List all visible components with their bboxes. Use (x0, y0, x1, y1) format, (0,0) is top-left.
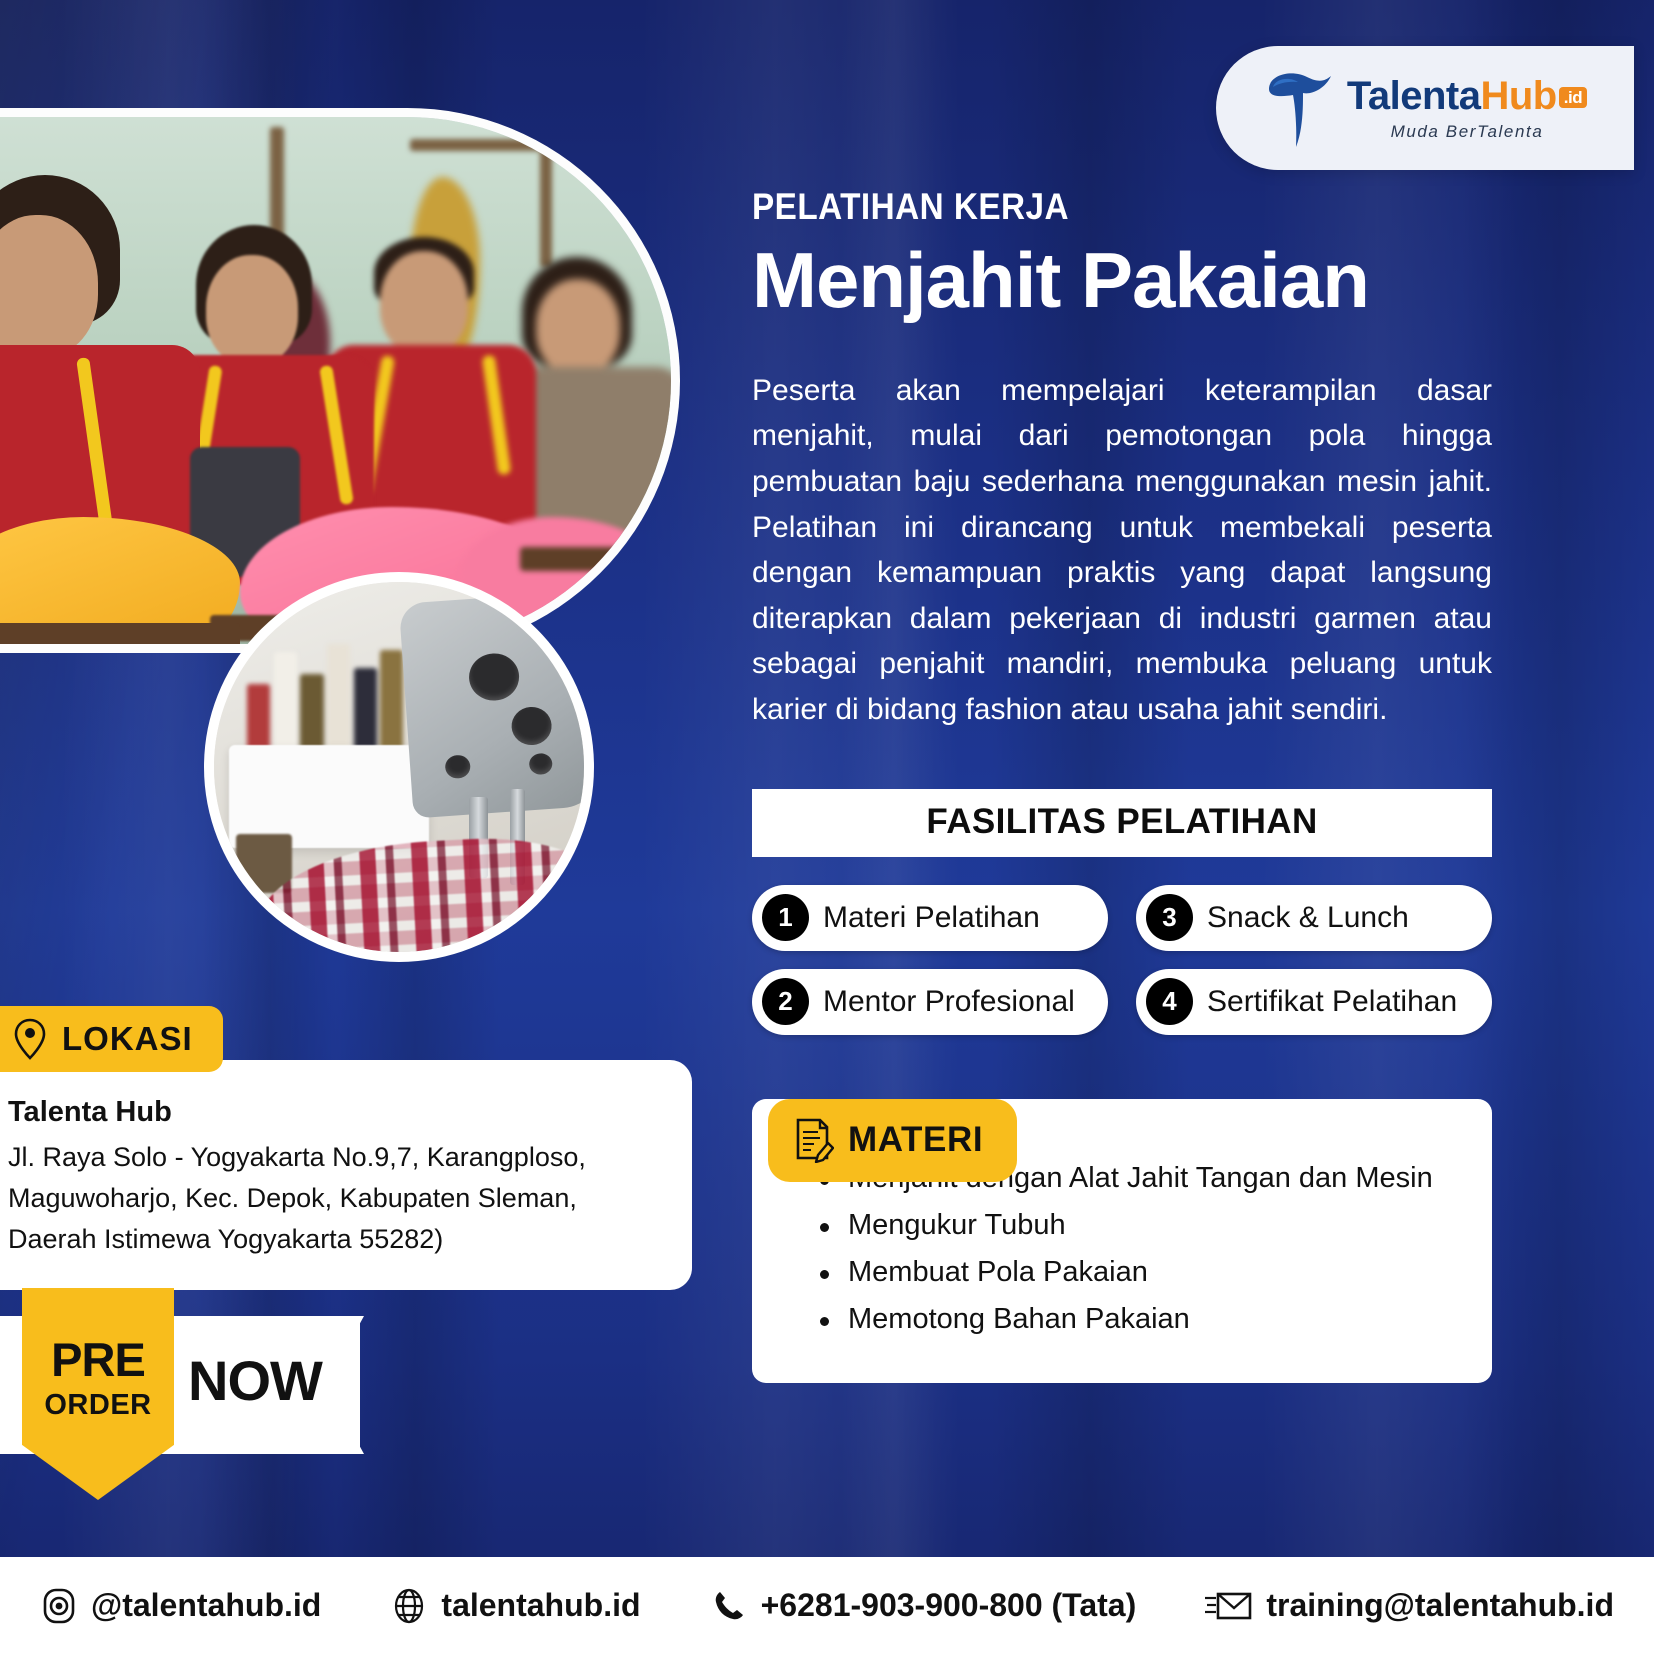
materi-badge-label: MATERI (848, 1120, 983, 1160)
preorder-pre-label: PRE (51, 1332, 145, 1387)
materi-list-item: Mengukur Tubuh (814, 1202, 1452, 1249)
phone-icon (710, 1587, 748, 1625)
eyebrow-label: PELATIHAN KERJA (752, 186, 1418, 228)
facilities-heading: FASILITAS PELATIHAN (752, 789, 1492, 857)
lokasi-address: Jl. Raya Solo - Yogyakarta No.9,7, Karan… (8, 1137, 662, 1260)
facility-number: 2 (762, 978, 809, 1025)
talentahub-logo: TalentaHub.id Muda BerTalenta (1216, 46, 1634, 170)
facility-item: 1 Materi Pelatihan (752, 885, 1108, 951)
materi-list: Menjahit dengan Alat Jahit Tangan dan Me… (814, 1155, 1452, 1343)
materi-section: MATERI Menjahit dengan Alat Jahit Tangan… (752, 1099, 1492, 1383)
talentahub-logo-mark (1263, 67, 1337, 149)
facility-label: Snack & Lunch (1207, 901, 1409, 935)
facility-item: 3 Snack & Lunch (1136, 885, 1492, 951)
footer-email[interactable]: training@talentahub.id (1205, 1587, 1614, 1625)
instagram-icon (40, 1587, 78, 1625)
materi-badge: MATERI (768, 1099, 1017, 1182)
logo-tagline: Muda BerTalenta (1347, 123, 1587, 140)
footer-contact-bar: @talentahub.id talentahub.id +6281-9 (0, 1557, 1654, 1654)
main-content-column: PELATIHAN KERJA Menjahit Pakaian Peserta… (752, 186, 1492, 1383)
footer-email-text: training@talentahub.id (1266, 1587, 1614, 1624)
preorder-pennant: PRE ORDER (22, 1288, 174, 1500)
facility-item: 2 Mentor Profesional (752, 969, 1108, 1035)
footer-website[interactable]: talentahub.id (390, 1587, 640, 1625)
footer-phone[interactable]: +6281-903-900-800 (Tata) (710, 1587, 1137, 1625)
document-pencil-icon (794, 1117, 834, 1163)
logo-word-hub: Hub (1480, 74, 1556, 118)
lokasi-venue-name: Talenta Hub (8, 1096, 662, 1129)
facility-item: 4 Sertifikat Pelatihan (1136, 969, 1492, 1035)
materi-list-item: Membuat Pola Pakaian (814, 1249, 1452, 1296)
lokasi-badge-label: LOKASI (62, 1020, 193, 1058)
page-title: Menjahit Pakaian (752, 240, 1492, 322)
description-paragraph: Peserta akan mempelajari keterampilan da… (752, 368, 1492, 733)
facility-label: Sertifikat Pelatihan (1207, 985, 1457, 1019)
logo-id-badge: .id (1559, 87, 1587, 108)
facility-label: Mentor Profesional (823, 985, 1075, 1019)
sewing-machine-closeup-photo (204, 572, 594, 962)
preorder-now-label: NOW (188, 1348, 322, 1413)
facilities-grid: 1 Materi Pelatihan 3 Snack & Lunch 2 Men… (752, 885, 1492, 1035)
preorder-order-label: ORDER (44, 1389, 151, 1422)
lokasi-badge: LOKASI (0, 1006, 223, 1072)
poster-root: TalentaHub.id Muda BerTalenta PELATIHAN … (0, 0, 1654, 1654)
location-pin-icon (14, 1018, 46, 1060)
globe-icon (390, 1587, 428, 1625)
facility-number: 1 (762, 894, 809, 941)
lokasi-card: Talenta Hub Jl. Raya Solo - Yogyakarta N… (0, 1060, 692, 1290)
facility-number: 4 (1146, 978, 1193, 1025)
facility-number: 3 (1146, 894, 1193, 941)
envelope-icon (1205, 1587, 1253, 1625)
footer-phone-text: +6281-903-900-800 (Tata) (761, 1587, 1137, 1624)
logo-wordmark: TalentaHub.id (1347, 76, 1587, 116)
training-classroom-photo (0, 108, 680, 653)
facility-label: Materi Pelatihan (823, 901, 1040, 935)
materi-list-item: Memotong Bahan Pakaian (814, 1296, 1452, 1343)
footer-instagram-text: @talentahub.id (91, 1587, 321, 1624)
footer-instagram[interactable]: @talentahub.id (40, 1587, 321, 1625)
preorder-banner[interactable]: NOW PRE ORDER (0, 1288, 400, 1528)
footer-website-text: talentahub.id (441, 1587, 640, 1624)
logo-word-talenta: Talenta (1347, 74, 1481, 118)
